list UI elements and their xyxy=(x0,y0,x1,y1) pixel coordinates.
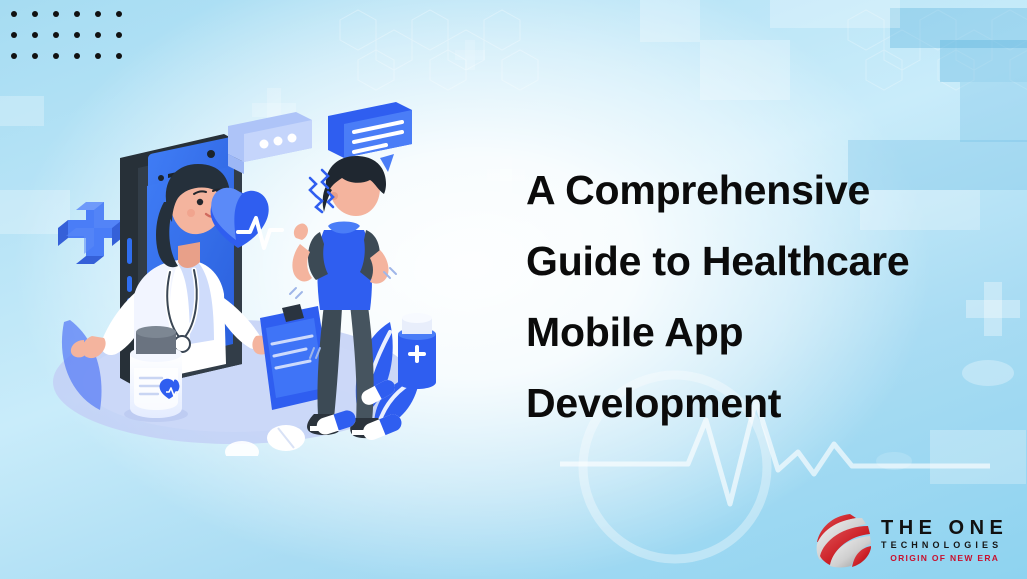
bg-rect-8 xyxy=(640,0,700,42)
grid-dot xyxy=(116,32,122,38)
sphere-globe-icon xyxy=(812,510,872,568)
grid-dot xyxy=(95,11,101,17)
grid-dot xyxy=(11,11,17,17)
logo-subtitle: TECHNOLOGIES xyxy=(881,539,1008,552)
chat-bubble-dots-icon xyxy=(228,112,312,174)
bg-rect-7 xyxy=(700,40,790,100)
grid-dot xyxy=(74,11,80,17)
grid-dot xyxy=(74,53,80,59)
logo-tagline: ORIGIN OF NEW ERA xyxy=(881,552,1008,564)
grid-dot xyxy=(95,32,101,38)
grid-dot xyxy=(53,53,59,59)
pill-bottle xyxy=(398,313,436,389)
grid-dot xyxy=(32,11,38,17)
company-logo[interactable]: THE ONE TECHNOLOGIES ORIGIN OF NEW ERA xyxy=(812,508,1017,570)
page-title: A Comprehensive Guide to Healthcare Mobi… xyxy=(526,155,1006,439)
bg-rect-3 xyxy=(960,82,1027,142)
grid-dot xyxy=(53,11,59,17)
grid-dot xyxy=(116,11,122,17)
logo-wordmark: THE ONE TECHNOLOGIES ORIGIN OF NEW ERA xyxy=(881,515,1008,564)
grid-dot xyxy=(53,32,59,38)
bg-cross-top xyxy=(455,40,485,70)
bg-rect-4 xyxy=(770,0,900,28)
logo-title: THE ONE xyxy=(881,517,1008,539)
grid-dot xyxy=(95,53,101,59)
healthcare-banner: A Comprehensive Guide to Healthcare Mobi… xyxy=(0,0,1027,579)
grid-dot xyxy=(11,32,17,38)
bg-rect-2 xyxy=(940,40,1027,82)
telemedicine-illustration xyxy=(28,96,458,456)
grid-dot xyxy=(32,53,38,59)
grid-dot xyxy=(11,53,17,59)
dot-grid-decor xyxy=(8,8,134,71)
medical-cross-icon xyxy=(58,202,122,264)
grid-dot xyxy=(74,32,80,38)
grid-dot xyxy=(116,53,122,59)
grid-dot xyxy=(32,32,38,38)
bg-cross-mid xyxy=(487,156,525,194)
